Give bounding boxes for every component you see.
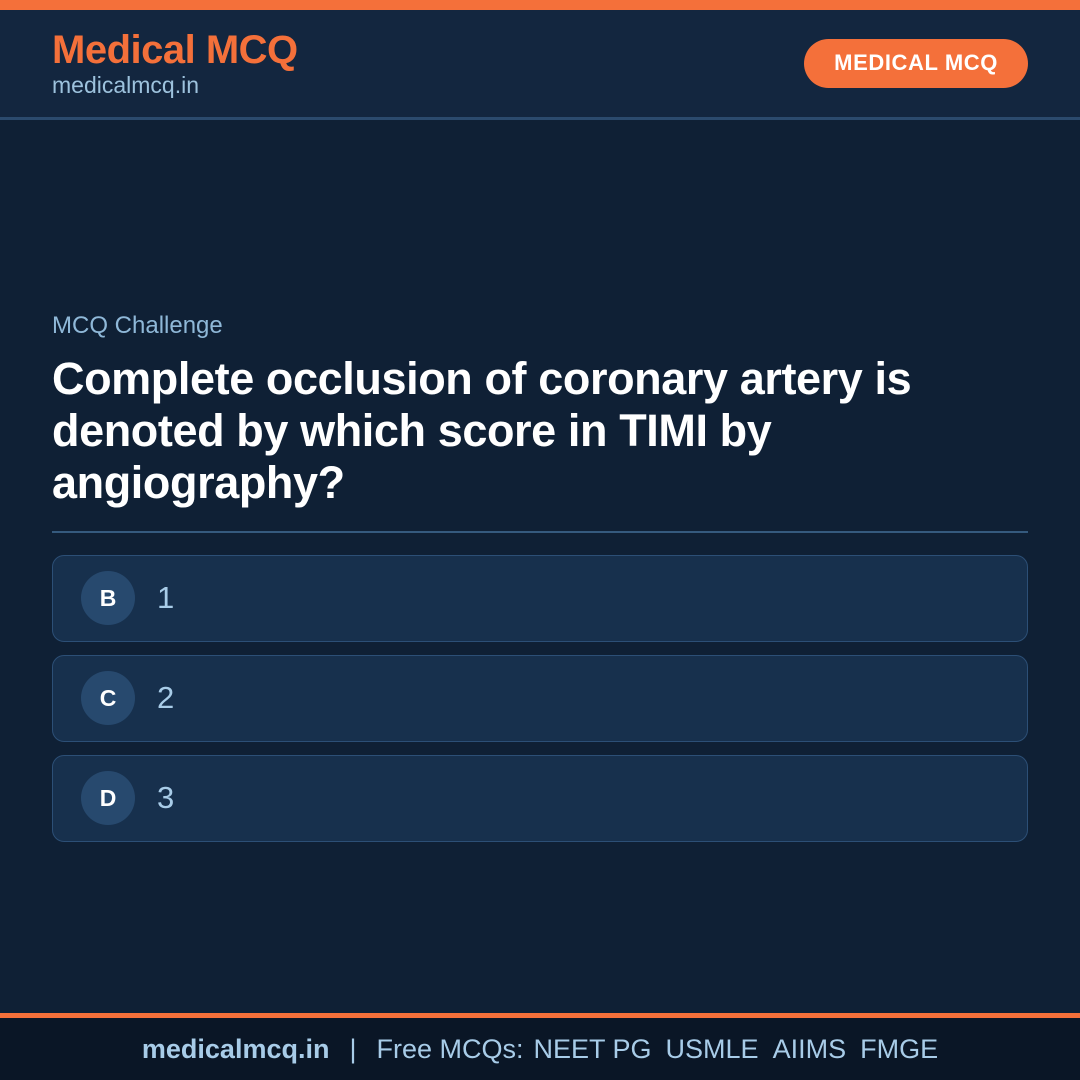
option-text: 2 [157, 681, 174, 715]
option-letter-badge: B [81, 571, 135, 625]
brand-block: Medical MCQ medicalmcq.in [52, 29, 298, 98]
main-content: MCQ Challenge Complete occlusion of coro… [0, 120, 1080, 1013]
question-block: MCQ Challenge Complete occlusion of coro… [52, 312, 1028, 533]
mcq-card-page: Medical MCQ medicalmcq.in MEDICAL MCQ MC… [0, 0, 1080, 1080]
brand-title: Medical MCQ [52, 29, 298, 71]
footer-inner: medicalmcq.in | Free MCQs: NEET PGUSMLEA… [142, 1034, 938, 1065]
footer-site-url: medicalmcq.in [142, 1034, 330, 1065]
option-text: 1 [157, 581, 174, 615]
footer-separator: | [329, 1034, 376, 1065]
option-letter-badge: C [81, 671, 135, 725]
page-header: Medical MCQ medicalmcq.in MEDICAL MCQ [0, 10, 1080, 120]
option-row-b[interactable]: B 1 [52, 555, 1028, 642]
page-footer: medicalmcq.in | Free MCQs: NEET PGUSMLEA… [0, 1013, 1080, 1080]
question-divider [52, 531, 1028, 533]
kicker-label: MCQ Challenge [52, 312, 1028, 341]
question-text: Complete occlusion of coronary artery is… [52, 353, 1012, 509]
options-list: B 1 C 2 D 3 [52, 555, 1028, 842]
footer-exam-list: NEET PGUSMLEAIIMSFMGE [524, 1034, 939, 1065]
footer-exam-usmle: USMLE [666, 1034, 773, 1064]
option-row-c[interactable]: C 2 [52, 655, 1028, 742]
header-badge: MEDICAL MCQ [804, 39, 1028, 88]
footer-exam-neet-pg: NEET PG [534, 1034, 666, 1064]
option-row-d[interactable]: D 3 [52, 755, 1028, 842]
footer-exam-aiims: AIIMS [773, 1034, 861, 1064]
option-text: 3 [157, 781, 174, 815]
footer-exam-fmge: FMGE [860, 1034, 938, 1064]
option-letter-badge: D [81, 771, 135, 825]
top-accent-bar [0, 0, 1080, 10]
footer-tagline: Free MCQs: [376, 1034, 523, 1065]
brand-site-url: medicalmcq.in [52, 73, 298, 98]
